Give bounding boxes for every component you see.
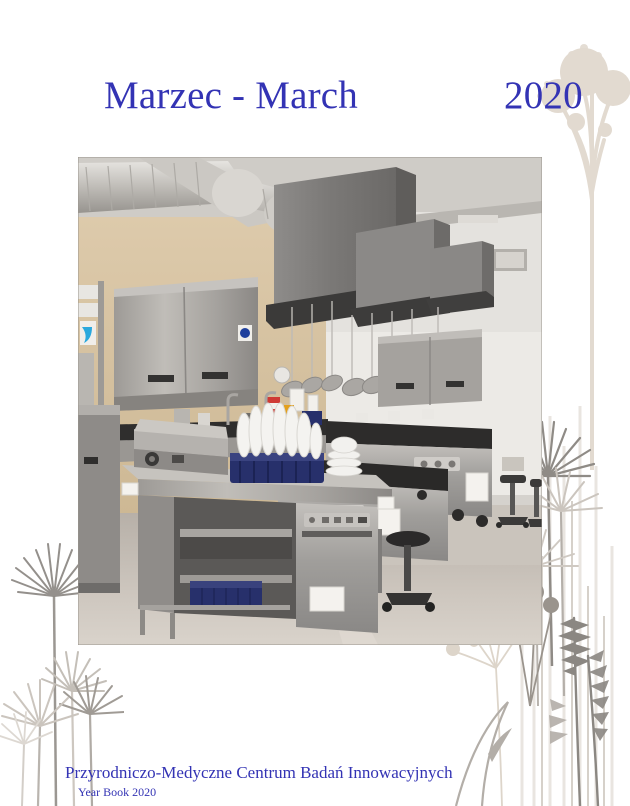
- yearbook-page: Marzec - March 2020: [0, 0, 630, 806]
- year-title: 2020: [504, 72, 583, 120]
- yearbook-subtitle: Year Book 2020: [78, 784, 630, 800]
- page-title: Marzec - March 2020: [0, 68, 630, 130]
- month-title: Marzec - March: [104, 72, 358, 120]
- organization-name: Przyrodniczo-Medyczne Centrum Badań Inno…: [65, 762, 630, 784]
- kitchen-photo: [78, 157, 542, 645]
- page-footer: Przyrodniczo-Medyczne Centrum Badań Inno…: [0, 762, 630, 800]
